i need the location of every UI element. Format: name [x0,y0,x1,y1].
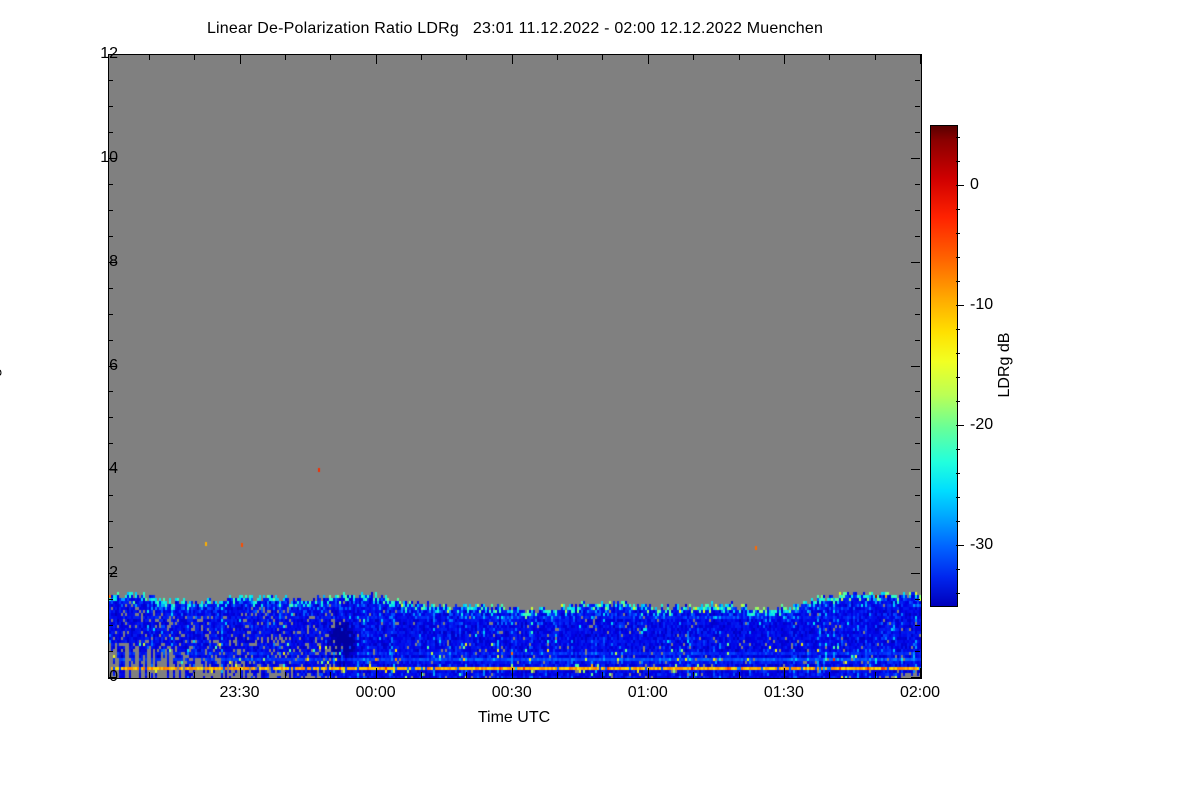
x-tick-minor [875,672,876,678]
x-tick-major [512,668,513,678]
y-tick-minor [108,210,113,211]
x-tick-major-top [920,54,921,64]
x-tick-minor [693,672,694,678]
x-tick-minor [829,672,830,678]
x-tick-minor [330,672,331,678]
x-tick-minor-top [875,54,876,60]
colorbar-tick-major [956,545,964,546]
x-tick-minor-top [149,54,150,60]
colorbar-gradient [931,126,957,606]
x-tick-minor [285,672,286,678]
x-tick-label: 01:00 [628,684,668,702]
y-tick-minor [108,132,113,133]
x-tick-minor [602,672,603,678]
y-tick-minor-right [915,314,920,315]
x-tick-minor-top [421,54,422,60]
y-tick-minor-right [915,210,920,211]
x-tick-minor-top [693,54,694,60]
y-tick-minor [108,314,113,315]
y-tick-minor-right [915,547,920,548]
y-tick-minor-right [915,184,920,185]
y-tick-minor [108,288,113,289]
colorbar-tick-minor [956,569,960,570]
y-tick-minor-right [915,391,920,392]
colorbar-tick-minor [956,593,960,594]
x-tick-major [648,668,649,678]
y-tick-minor [108,417,113,418]
x-tick-minor [739,672,740,678]
x-tick-minor [421,672,422,678]
x-tick-label: 23:30 [220,684,260,702]
y-tick-major-right [911,366,920,367]
y-tick-major-right [911,54,920,55]
chart-title: Linear De-Polarization Ratio LDRg 23:01 … [0,20,1030,38]
colorbar-tick-minor [956,233,960,234]
x-tick-major-top [512,54,513,64]
colorbar-title: LDRg dB [996,285,1014,445]
x-tick-major [784,668,785,678]
x-tick-minor-top [330,54,331,60]
x-tick-major-top [784,54,785,64]
y-tick-minor-right [915,625,920,626]
radar-ldr-figure: Linear De-Polarization Ratio LDRg 23:01 … [0,0,1200,800]
y-tick-minor-right [915,651,920,652]
colorbar-tick-major [956,185,964,186]
x-tick-major-top [648,54,649,64]
y-tick-major-right [911,158,920,159]
y-tick-label: 10 [100,149,118,167]
y-tick-major-right [911,262,920,263]
y-tick-major-right [911,469,920,470]
y-tick-minor-right [915,80,920,81]
x-tick-label: 00:30 [492,684,532,702]
x-tick-major [240,668,241,678]
colorbar-tick-minor [956,473,960,474]
y-tick-minor [108,236,113,237]
x-tick-minor [194,672,195,678]
y-tick-minor [108,184,113,185]
y-tick-major-right [911,677,920,678]
x-tick-label: 02:00 [900,684,940,702]
y-tick-minor [108,547,113,548]
y-tick-minor [108,495,113,496]
colorbar-tick-minor [956,497,960,498]
colorbar-tick-minor [956,401,960,402]
colorbar-tick-minor [956,257,960,258]
x-tick-minor-top [194,54,195,60]
colorbar-tick-label: -10 [970,296,993,314]
y-tick-minor-right [915,236,920,237]
colorbar-tick-major [956,305,964,306]
x-tick-label: 01:30 [764,684,804,702]
x-tick-major [920,668,921,678]
colorbar-tick-minor [956,137,960,138]
x-tick-major [376,668,377,678]
x-tick-minor-top [285,54,286,60]
y-tick-minor-right [915,521,920,522]
y-tick-minor [108,625,113,626]
y-tick-minor [108,443,113,444]
y-tick-minor-right [915,340,920,341]
colorbar-tick-minor [956,281,960,282]
y-tick-minor-right [915,106,920,107]
x-tick-minor-top [739,54,740,60]
colorbar-tick-major [956,425,964,426]
y-tick-minor [108,106,113,107]
y-tick-minor [108,391,113,392]
y-tick-minor-right [915,132,920,133]
y-tick-minor-right [915,417,920,418]
colorbar-tick-label: -30 [970,536,993,554]
y-tick-label: 6 [109,357,118,375]
colorbar-tick-minor [956,209,960,210]
x-tick-label: 00:00 [356,684,396,702]
y-tick-minor-right [915,599,920,600]
y-tick-minor [108,521,113,522]
y-axis-title: Height km [0,285,3,445]
x-tick-major-top [240,54,241,64]
colorbar-tick-minor [956,353,960,354]
y-tick-minor-right [915,495,920,496]
x-tick-minor [466,672,467,678]
y-tick-minor [108,340,113,341]
colorbar-tick-minor [956,377,960,378]
y-tick-minor [108,651,113,652]
y-tick-major-right [911,573,920,574]
ldr-heatmap-canvas [109,55,921,678]
colorbar-tick-minor [956,329,960,330]
colorbar-tick-minor [956,161,960,162]
plot-area [108,54,922,679]
y-tick-label: 8 [109,253,118,271]
colorbar-tick-minor [956,449,960,450]
x-tick-minor-top [829,54,830,60]
y-tick-label: 2 [109,564,118,582]
colorbar-tick-label: -20 [970,416,993,434]
y-tick-label: 0 [109,668,118,686]
y-tick-minor-right [915,288,920,289]
y-tick-minor [108,599,113,600]
x-axis-title: Time UTC [478,709,550,727]
x-tick-minor [149,672,150,678]
x-tick-minor-top [557,54,558,60]
x-tick-minor-top [466,54,467,60]
x-tick-minor-top [602,54,603,60]
x-tick-major-top [376,54,377,64]
x-tick-minor [557,672,558,678]
colorbar-tick-label: 0 [970,176,979,194]
y-tick-label: 4 [109,460,118,478]
colorbar-tick-minor [956,521,960,522]
y-tick-minor-right [915,443,920,444]
y-tick-label: 12 [100,45,118,63]
colorbar [930,125,958,607]
y-tick-minor [108,80,113,81]
